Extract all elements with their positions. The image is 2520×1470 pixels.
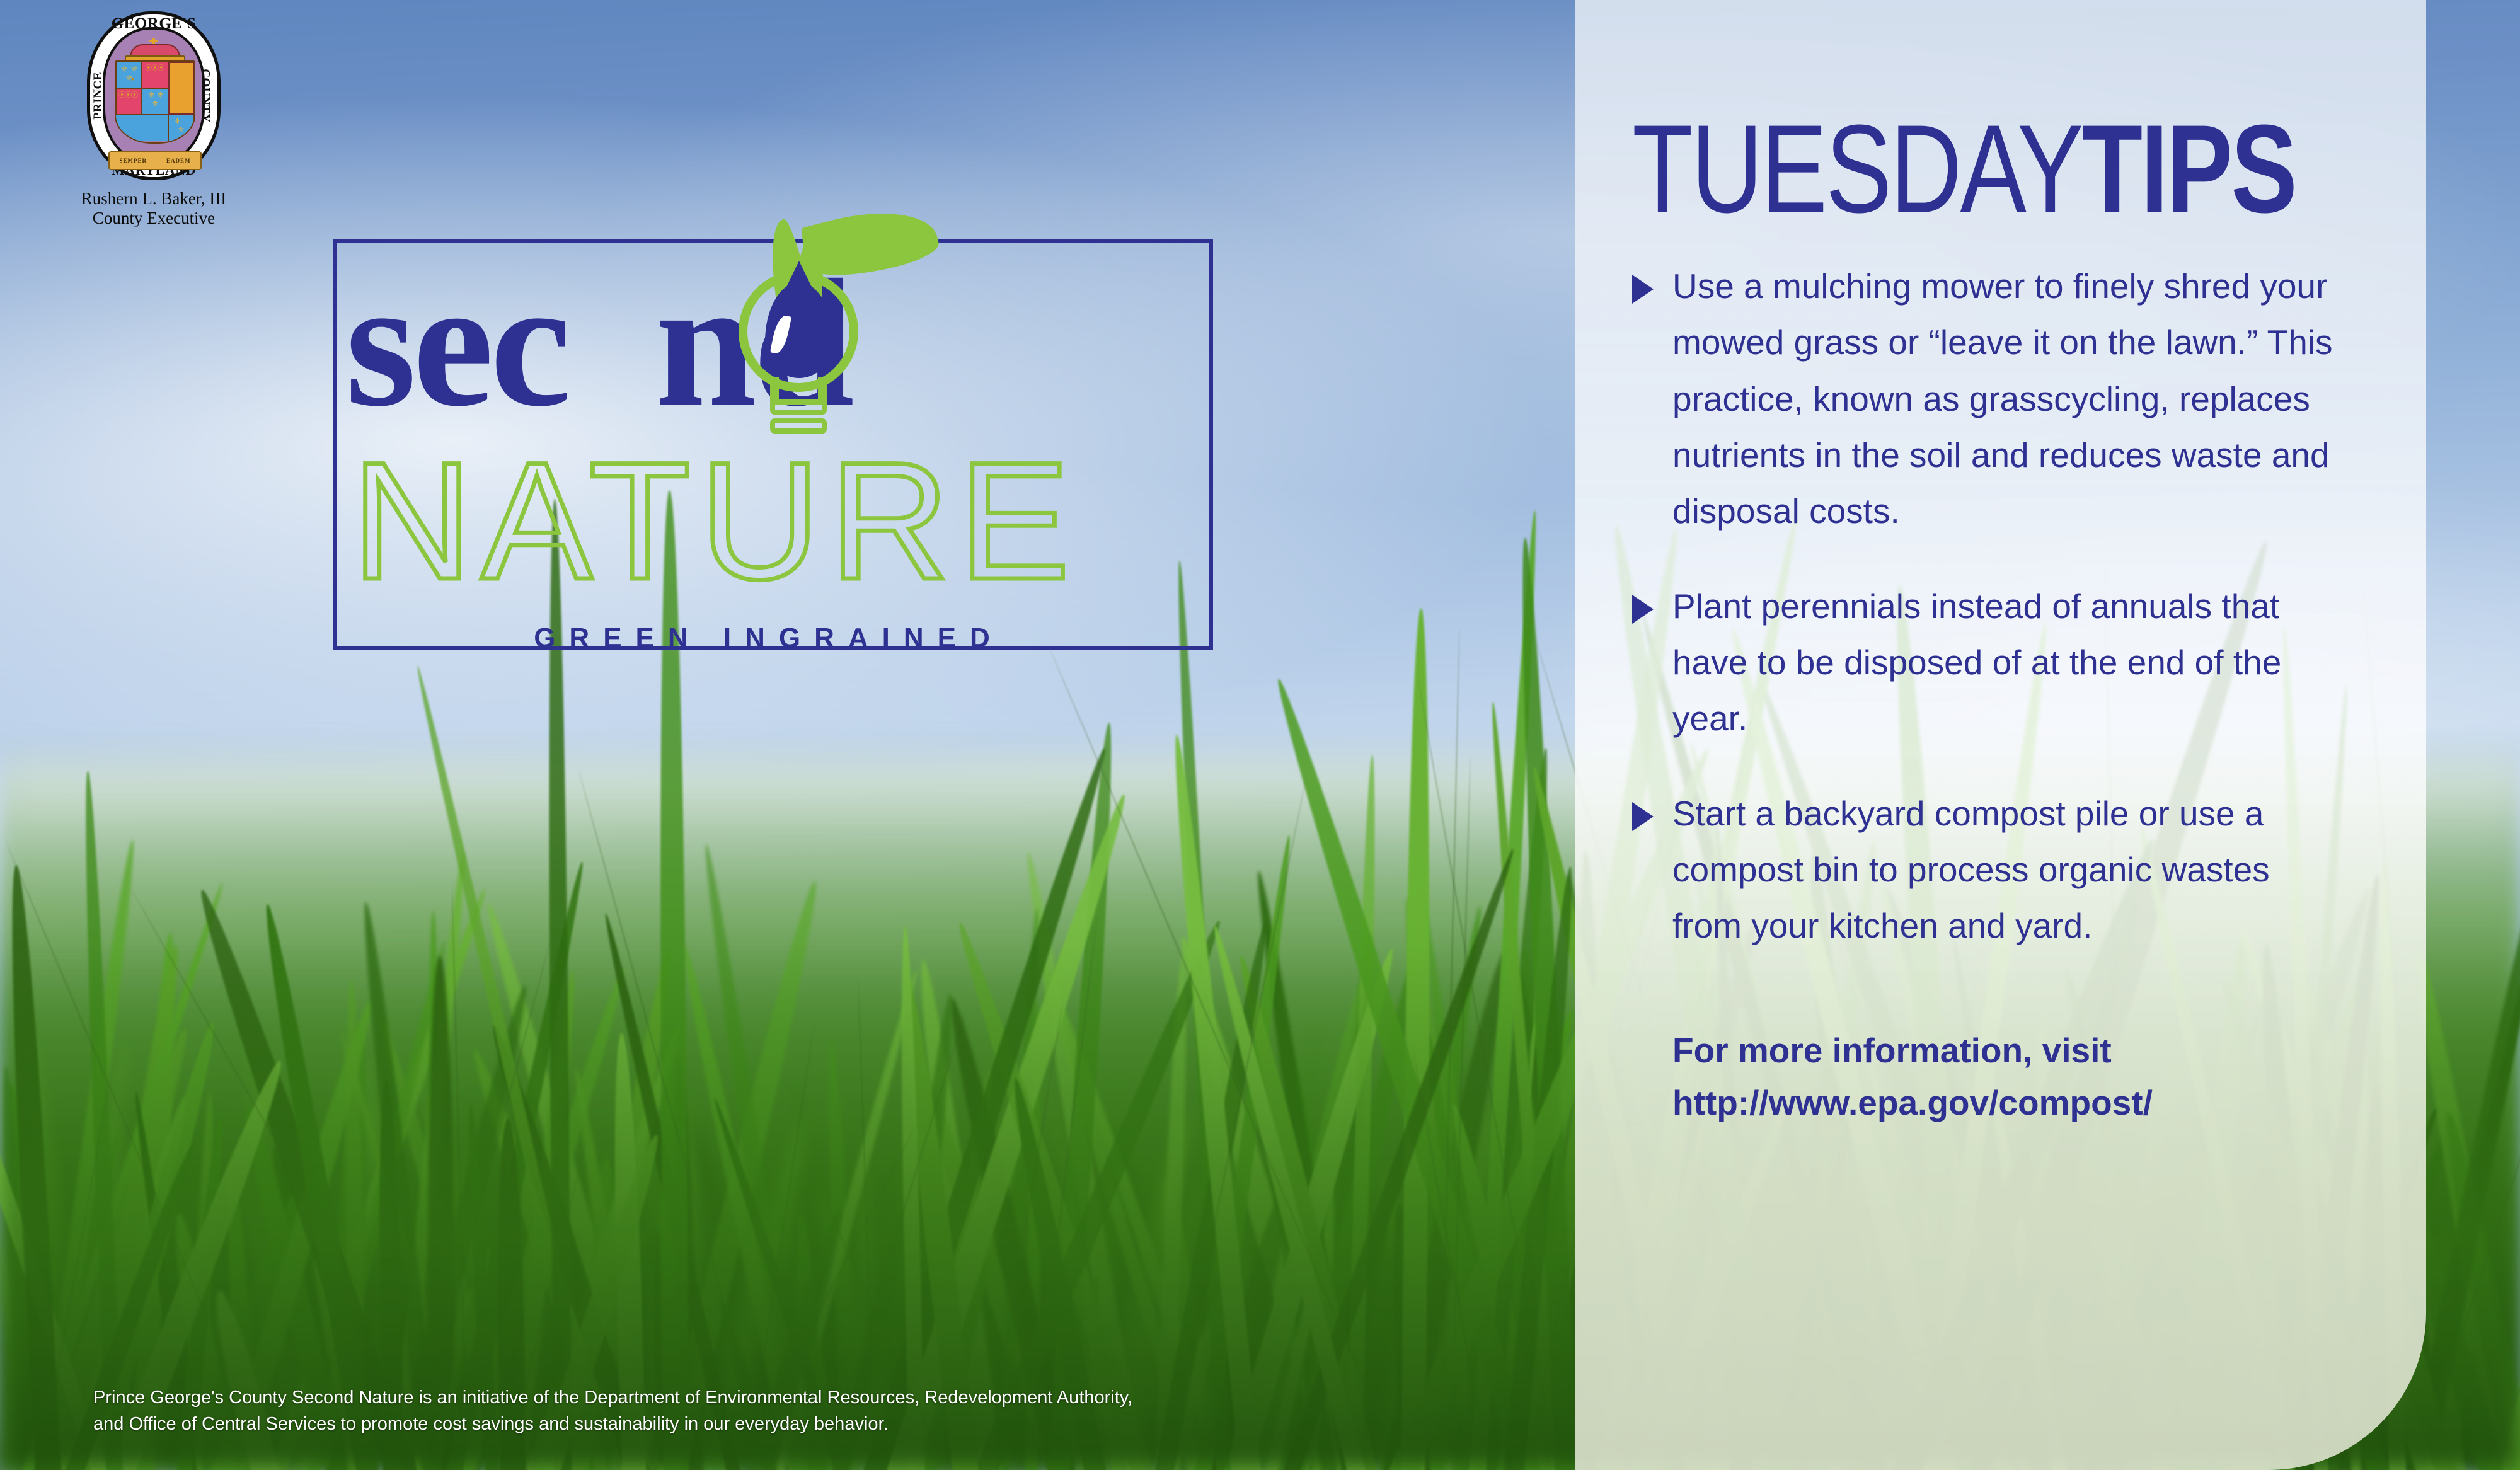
seal-text-right: COUNTY bbox=[198, 69, 212, 122]
lightbulb-sprout-icon bbox=[723, 221, 875, 441]
panel-title-thin: TUESDAY bbox=[1632, 119, 2082, 219]
panel-content: TUESDAYTIPS Use a mulching mower to fine… bbox=[1575, 0, 2426, 1128]
tip-text: Plant perennials instead of annuals that… bbox=[1672, 578, 2334, 747]
shield-quarter-fleur-2: ⚜ ⚜ ⚜ bbox=[142, 88, 168, 115]
shield-quarter-lions-3: ⦿⦿ bbox=[116, 141, 142, 142]
seal-text-left: PRINCE bbox=[91, 72, 105, 120]
bullet-triangle-icon bbox=[1632, 802, 1654, 831]
bullet-triangle-icon bbox=[1632, 275, 1654, 304]
tip-item: Use a mulching mower to finely shred you… bbox=[1632, 258, 2382, 539]
motto-right: EADEM bbox=[166, 158, 191, 164]
shield-quarter-fleur-3: ⚜ ⚜ bbox=[168, 115, 194, 141]
logo-tagline: GREEN INGRAINED bbox=[328, 623, 1210, 654]
county-seal-block: GEORGE'S PRINCE COUNTY MARYLAND ⚜ ⚜ ⚜ ⦿⦿… bbox=[59, 11, 248, 229]
cta-line-1: For more information, visit bbox=[1672, 1025, 2382, 1077]
tip-item: Start a backyard compost pile or use a c… bbox=[1632, 786, 2382, 954]
panel-title: TUESDAYTIPS bbox=[1632, 0, 2382, 219]
disclaimer-line-1: Prince George's County Second Nature is … bbox=[93, 1384, 1480, 1411]
call-to-action: For more information, visit http://www.e… bbox=[1632, 1025, 2382, 1128]
executive-title: County Executive bbox=[59, 209, 248, 228]
shield-quarter-lions-2: ⦿⦿⦿ bbox=[116, 88, 142, 115]
second-nature-logo: second NATURE GREEN INGRAINED bbox=[328, 95, 1223, 699]
motto-banner: SEMPER EADEM bbox=[108, 151, 202, 170]
seal-text-top: GEORGE'S bbox=[87, 15, 221, 33]
county-executive-block: Rushern L. Baker, III County Executive bbox=[59, 189, 248, 229]
panel-title-bold: TIPS bbox=[2082, 119, 2296, 219]
shield-quarter-lion-rampant: 🐊 bbox=[168, 62, 194, 115]
tuesday-tips-panel: TUESDAYTIPS Use a mulching mower to fine… bbox=[1575, 0, 2426, 1470]
executive-name: Rushern L. Baker, III bbox=[59, 189, 248, 209]
logo-word-nature: NATURE bbox=[352, 438, 1183, 605]
cta-url[interactable]: http://www.epa.gov/compost/ bbox=[1672, 1077, 2382, 1129]
heraldic-shield-icon: ⚜ ⚜ ⚜ ⦿⦿⦿ 🐊 ⦿⦿⦿ ⚜ ⚜ ⚜ bbox=[115, 60, 195, 144]
motto-left: SEMPER bbox=[119, 158, 147, 164]
prince-georges-county-seal-icon: GEORGE'S PRINCE COUNTY MARYLAND ⚜ ⚜ ⚜ ⦿⦿… bbox=[87, 11, 221, 180]
footer-disclaimer: Prince George's County Second Nature is … bbox=[93, 1384, 1480, 1437]
harp-icon: ♩ bbox=[130, 66, 146, 85]
bullet-triangle-icon bbox=[1632, 595, 1654, 624]
tip-text: Use a mulching mower to finely shred you… bbox=[1672, 258, 2334, 539]
tip-item: Plant perennials instead of annuals that… bbox=[1632, 578, 2382, 747]
tip-text: Start a backyard compost pile or use a c… bbox=[1672, 786, 2334, 954]
water-drop-highlight bbox=[770, 314, 791, 355]
bulb-screw-ring-1 bbox=[770, 399, 827, 415]
logo-second-sec: sec bbox=[345, 242, 567, 444]
poster-canvas: GEORGE'S PRINCE COUNTY MARYLAND ⚜ ⚜ ⚜ ⦿⦿… bbox=[0, 0, 2520, 1470]
disclaimer-line-2: and Office of Central Services to promot… bbox=[93, 1411, 1480, 1437]
